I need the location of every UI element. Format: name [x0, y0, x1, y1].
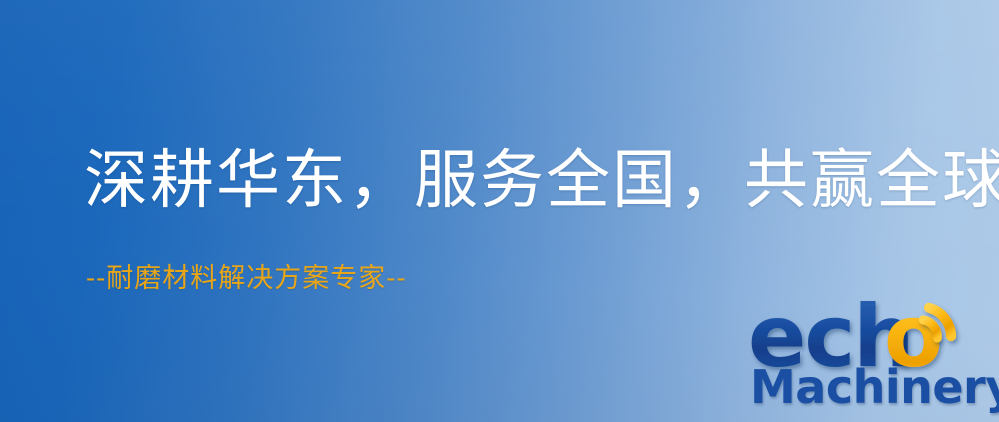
echo-machinery-logo: ech o Machinery ® — [748, 296, 999, 422]
logo-subtext-wrap: Machinery ® — [750, 364, 999, 410]
banner-subtitle: --耐磨材料解决方案专家-- — [86, 264, 407, 294]
logo-machinery-text: Machinery — [750, 364, 999, 410]
banner-headline: 深耕华东，服务全国，共赢全球 — [84, 148, 999, 215]
promo-banner: 深耕华东，服务全国，共赢全球 --耐磨材料解决方案专家-- — [0, 0, 999, 422]
